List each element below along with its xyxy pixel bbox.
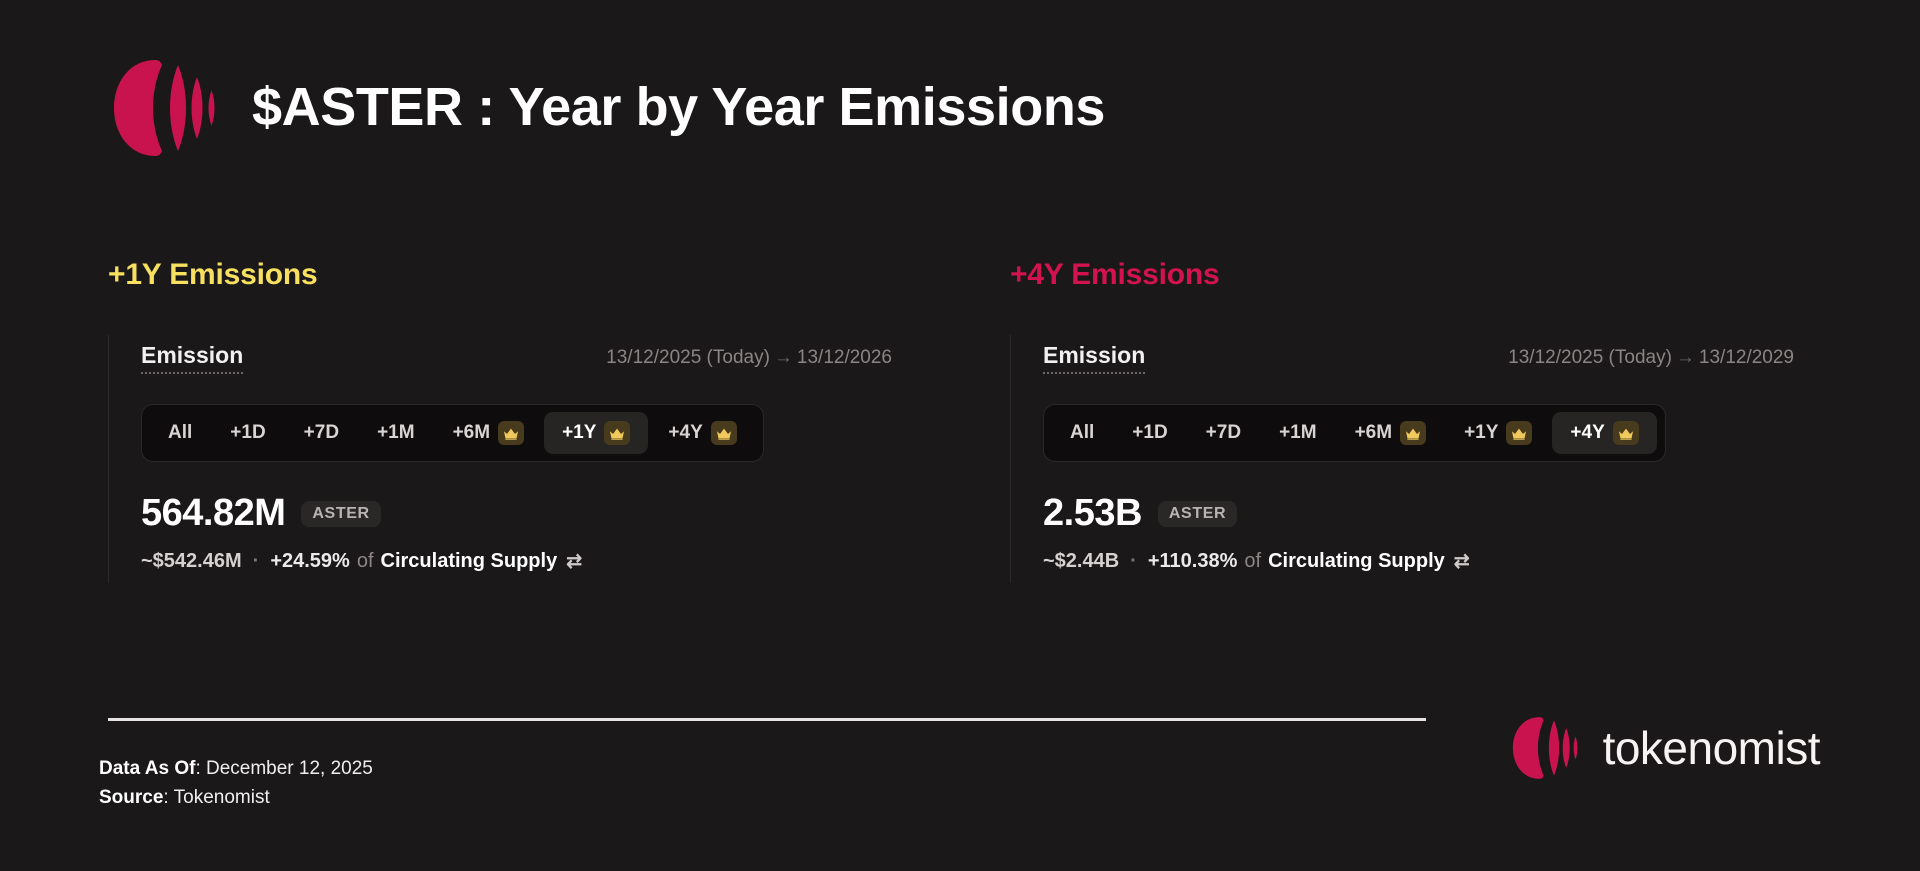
tab-4y-1y[interactable]: +4Y — [650, 412, 754, 454]
page-header: $ASTER : Year by Year Emissions — [108, 52, 1105, 164]
ticker-badge-4y: ASTER — [1158, 501, 1237, 527]
data-as-of-value: : December 12, 2025 — [195, 758, 372, 779]
data-as-of-label: Data As Of — [99, 758, 195, 779]
crown-icon — [1400, 421, 1426, 445]
percent-value-1y: +24.59% — [270, 550, 350, 573]
data-as-of-line: Data As Of: December 12, 2025 — [99, 754, 373, 783]
tab-label: +1Y — [562, 422, 596, 444]
crown-icon — [498, 421, 524, 445]
tab-label: +1D — [230, 422, 265, 444]
tab-1d-4y[interactable]: +1D — [1114, 413, 1185, 453]
tab-7d-4y[interactable]: +7D — [1188, 413, 1259, 453]
tab-4y-4y[interactable]: +4Y — [1552, 412, 1656, 454]
tab-1d-1y[interactable]: +1D — [212, 413, 283, 453]
tab-label: +4Y — [1570, 422, 1604, 444]
tab-label: All — [1070, 422, 1094, 444]
swap-supply-icon-4y[interactable]: ⇄ — [1445, 550, 1470, 573]
timeframe-tabs-1y[interactable]: All +1D +7D +1M +6M +1Y +4Y — [141, 404, 764, 462]
crown-icon — [711, 421, 737, 445]
supply-label-1y: Circulating Supply — [381, 550, 558, 573]
column-heading-1y: +1Y Emissions — [108, 258, 922, 291]
card-header-4y: Emission 13/12/2025 (Today)→13/12/2029 — [1043, 343, 1824, 374]
crown-icon — [1506, 421, 1532, 445]
emissions-column-1y: +1Y Emissions Emission 13/12/2025 (Today… — [108, 258, 922, 583]
emission-value-1y: 564.82M — [141, 494, 285, 534]
footer-meta: Data As Of: December 12, 2025 Source: To… — [99, 754, 373, 813]
percent-value-4y: +110.38% — [1148, 550, 1238, 573]
footer-divider — [108, 718, 1426, 721]
tab-1y-1y[interactable]: +1Y — [544, 412, 648, 454]
tab-7d-1y[interactable]: +7D — [286, 413, 357, 453]
separator-dot-1y: · — [242, 550, 271, 573]
tab-1m-4y[interactable]: +1M — [1261, 413, 1335, 453]
range-arrow-icon-1y: → — [770, 347, 797, 368]
card-date-range-4y: 13/12/2025 (Today)→13/12/2029 — [1508, 347, 1794, 369]
source-line: Source: Tokenomist — [99, 783, 373, 812]
emission-value-row-1y: 564.82M ASTER — [141, 494, 922, 534]
column-heading-4y: +4Y Emissions — [1010, 258, 1824, 291]
of-word-4y: of — [1237, 550, 1268, 573]
source-label: Source — [99, 787, 163, 808]
emission-subline-1y: ~$542.46M · +24.59% of Circulating Suppl… — [141, 550, 922, 573]
tab-label: +1D — [1132, 422, 1167, 444]
tokenomist-wordmark: tokenomist — [1603, 725, 1820, 771]
tab-label: +1M — [377, 422, 415, 444]
emission-value-row-4y: 2.53B ASTER — [1043, 494, 1824, 534]
tab-label: +1Y — [1464, 422, 1498, 444]
crown-icon — [1613, 421, 1639, 445]
emission-subline-4y: ~$2.44B · +110.38% of Circulating Supply… — [1043, 550, 1824, 573]
source-value: : Tokenomist — [163, 787, 269, 808]
range-start-1y: 13/12/2025 (Today) — [606, 347, 770, 368]
tokenomist-mark-icon — [1509, 712, 1581, 784]
usd-value-1y: ~$542.46M — [141, 550, 242, 573]
tab-6m-4y[interactable]: +6M — [1337, 412, 1445, 454]
emission-card-4y: Emission 13/12/2025 (Today)→13/12/2029 A… — [1010, 335, 1824, 583]
range-end-1y: 13/12/2026 — [797, 347, 892, 368]
page-title: $ASTER : Year by Year Emissions — [252, 78, 1105, 137]
card-metric-label-1y[interactable]: Emission — [141, 343, 243, 374]
range-end-4y: 13/12/2029 — [1699, 347, 1794, 368]
tab-all-1y[interactable]: All — [150, 413, 210, 453]
card-date-range-1y: 13/12/2025 (Today)→13/12/2026 — [606, 347, 892, 369]
timeframe-tabs-4y[interactable]: All +1D +7D +1M +6M +1Y +4Y — [1043, 404, 1666, 462]
of-word-1y: of — [350, 550, 381, 573]
emissions-column-4y: +4Y Emissions Emission 13/12/2025 (Today… — [1010, 258, 1824, 583]
tab-label: All — [168, 422, 192, 444]
tokenomist-mark-icon — [108, 52, 220, 164]
tab-label: +6M — [453, 422, 491, 444]
separator-dot-4y: · — [1119, 550, 1148, 573]
emissions-columns: +1Y Emissions Emission 13/12/2025 (Today… — [108, 258, 1824, 583]
emission-card-1y: Emission 13/12/2025 (Today)→13/12/2026 A… — [108, 335, 922, 583]
ticker-badge-1y: ASTER — [301, 501, 380, 527]
tab-label: +1M — [1279, 422, 1317, 444]
supply-label-4y: Circulating Supply — [1268, 550, 1445, 573]
crown-icon — [604, 421, 630, 445]
page-root: $ASTER : Year by Year Emissions +1Y Emis… — [0, 0, 1920, 871]
tab-1m-1y[interactable]: +1M — [359, 413, 433, 453]
tab-label: +7D — [1206, 422, 1241, 444]
range-arrow-icon-4y: → — [1672, 347, 1699, 368]
swap-supply-icon-1y[interactable]: ⇄ — [557, 550, 582, 573]
card-header-1y: Emission 13/12/2025 (Today)→13/12/2026 — [141, 343, 922, 374]
card-metric-label-4y[interactable]: Emission — [1043, 343, 1145, 374]
usd-value-4y: ~$2.44B — [1043, 550, 1119, 573]
range-start-4y: 13/12/2025 (Today) — [1508, 347, 1672, 368]
tab-label: +7D — [304, 422, 339, 444]
tab-1y-4y[interactable]: +1Y — [1446, 412, 1550, 454]
emission-value-4y: 2.53B — [1043, 494, 1142, 534]
tab-label: +4Y — [668, 422, 702, 444]
footer-brand: tokenomist — [1509, 712, 1820, 784]
tab-label: +6M — [1355, 422, 1393, 444]
tab-6m-1y[interactable]: +6M — [435, 412, 543, 454]
tab-all-4y[interactable]: All — [1052, 413, 1112, 453]
